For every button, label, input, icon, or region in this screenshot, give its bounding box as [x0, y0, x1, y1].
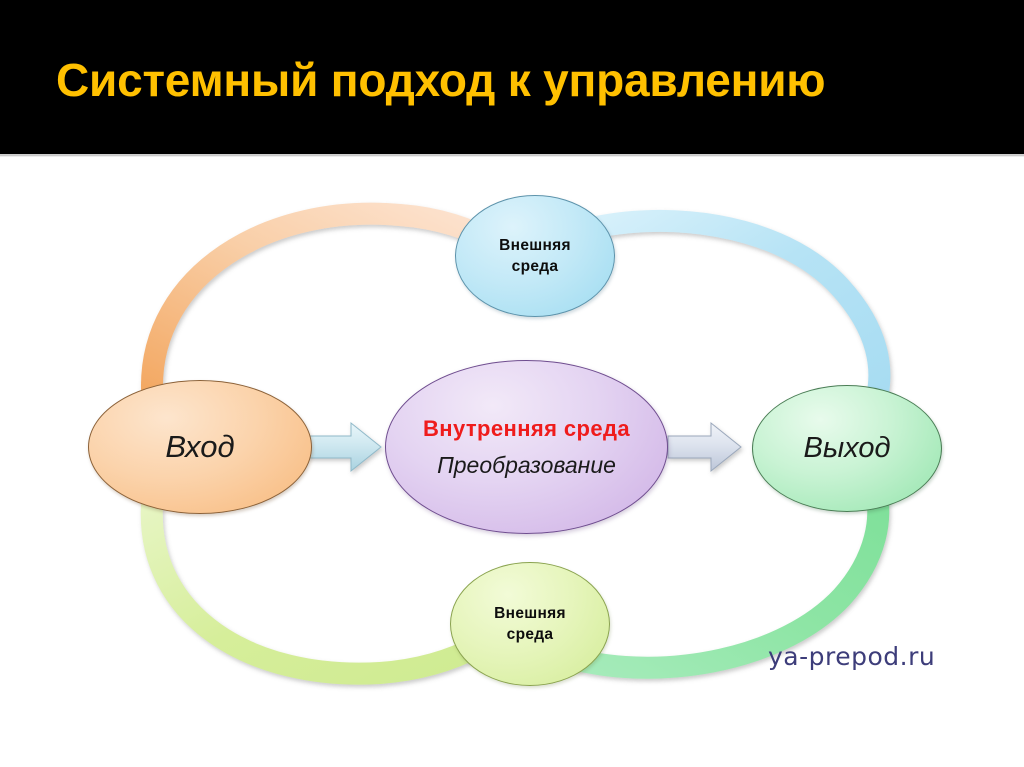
title-band: Системный подход к управлению — [0, 0, 1024, 154]
arrow-core-to-output — [668, 423, 741, 471]
node-core-label-primary: Внутренняя среда — [423, 416, 630, 442]
node-env-bottom-label-line1: Внешняя — [494, 603, 566, 624]
node-core-label-secondary: Преобразование — [437, 452, 616, 479]
arc-upper-right — [580, 221, 879, 401]
node-internal-environment[interactable]: Внутренняя среда Преобразование — [385, 360, 668, 534]
watermark: ya-prepod.ru — [768, 642, 935, 671]
node-output-label: Выход — [803, 432, 890, 465]
arrow-input-to-core — [308, 423, 381, 471]
node-env-bottom-label-line2: среда — [507, 624, 554, 645]
node-output[interactable]: Выход — [752, 385, 942, 512]
diagram-canvas: Внешняя среда Вход Внутренняя среда Прео… — [0, 157, 1024, 767]
arc-lower-left — [152, 505, 478, 674]
node-env-top-label-line1: Внешняя — [499, 235, 571, 256]
node-external-environment-bottom[interactable]: Внешняя среда — [450, 562, 610, 686]
node-env-top-label-line2: среда — [512, 256, 559, 277]
node-external-environment-top[interactable]: Внешняя среда — [455, 195, 615, 317]
arc-upper-left — [152, 214, 496, 389]
node-input-label: Вход — [165, 429, 234, 465]
slide-root: Системный подход к управлению — [0, 0, 1024, 767]
node-input[interactable]: Вход — [88, 380, 312, 514]
page-title: Системный подход к управлению — [56, 54, 976, 106]
